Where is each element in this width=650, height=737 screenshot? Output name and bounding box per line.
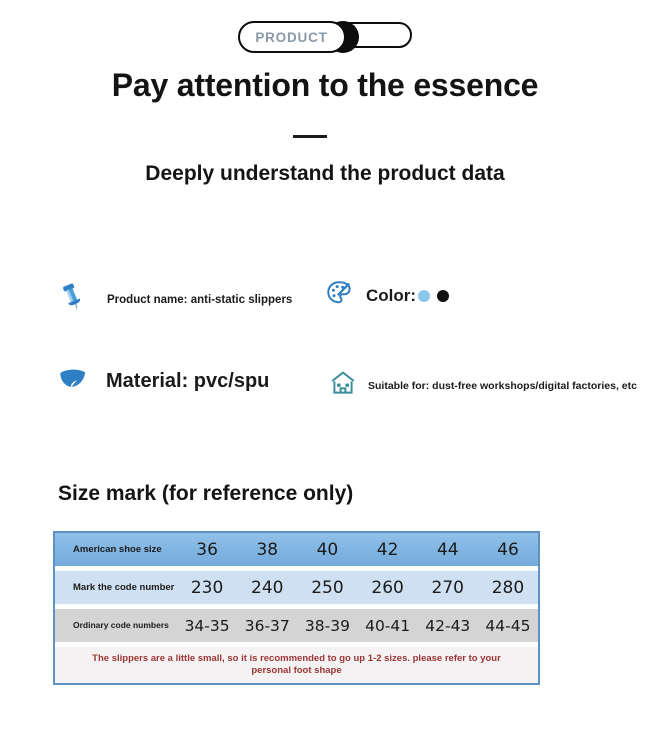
table-cell: 36 [177,540,237,560]
table-cell: 280 [478,578,538,598]
spec-color-text: Color: [366,286,449,306]
page-title: Pay attention to the essence [0,66,650,104]
table-row-mark-code: Mark the code number 230 240 250 260 270… [55,571,538,604]
size-table-note: The slippers are a little small, so it i… [55,653,538,677]
table-row-header: American shoe size 36 38 40 42 44 46 [55,533,538,566]
badge-inner-pill: PRODUCT [238,21,346,53]
table-cell: 230 [177,578,237,598]
row-cells-ordinary-code: 34-35 36-37 38-39 40-41 42-43 44-45 [177,617,538,635]
badge-outer-pill: PRODUCT [239,22,412,48]
page-subtitle: Deeply understand the product data [0,160,650,188]
size-table: American shoe size 36 38 40 42 44 46 Mar… [53,531,540,685]
table-cell: 42 [358,540,418,560]
table-cell: 38-39 [297,617,357,635]
table-cell: 40 [297,540,357,560]
spec-product-name: Product name: anti-static slippers [60,282,292,317]
palette-icon [326,280,352,311]
spec-material: Material: pvc/spu [58,366,269,397]
table-cell: 240 [237,578,297,598]
spec-material-text: Material: pvc/spu [106,370,269,393]
row-label-mark-the-code-number: Mark the code number [55,582,177,593]
table-row-note: The slippers are a little small, so it i… [55,647,538,683]
table-cell: 250 [297,578,357,598]
spec-product-name-text: Product name: anti-static slippers [107,294,292,306]
badge-label: PRODUCT [255,30,327,45]
table-cell: 42-43 [418,617,478,635]
size-section-title: Size mark (for reference only) [58,482,353,506]
pushpin-icon [60,282,86,317]
factory-house-icon [330,370,356,401]
row-label-american-shoe-size: American shoe size [55,544,177,555]
spec-color-label: Color: [366,286,416,305]
color-swatch-list [418,290,449,302]
row-label-ordinary-code-numbers: Ordinary code numbers [55,620,177,631]
product-badge: PRODUCT [0,22,650,48]
table-cell: 260 [358,578,418,598]
table-cell: 270 [418,578,478,598]
title-divider [293,135,327,138]
table-cell: 38 [237,540,297,560]
row-cells-mark-code: 230 240 250 260 270 280 [177,578,538,598]
color-swatch-black [437,290,449,302]
row-cells-american-shoe-size: 36 38 40 42 44 46 [177,540,538,560]
spec-suitable-for-text: Suitable for: dust-free workshops/digita… [368,380,637,392]
table-cell: 46 [478,540,538,560]
table-cell: 36-37 [237,617,297,635]
table-cell: 40-41 [358,617,418,635]
spec-color: Color: [326,280,449,311]
leaf-icon [58,366,88,397]
table-cell: 34-35 [177,617,237,635]
table-cell: 44-45 [478,617,538,635]
table-cell: 44 [418,540,478,560]
color-swatch-blue [418,290,430,302]
table-row-ordinary-code: Ordinary code numbers 34-35 36-37 38-39 … [55,609,538,642]
spec-suitable-for: Suitable for: dust-free workshops/digita… [330,370,637,401]
